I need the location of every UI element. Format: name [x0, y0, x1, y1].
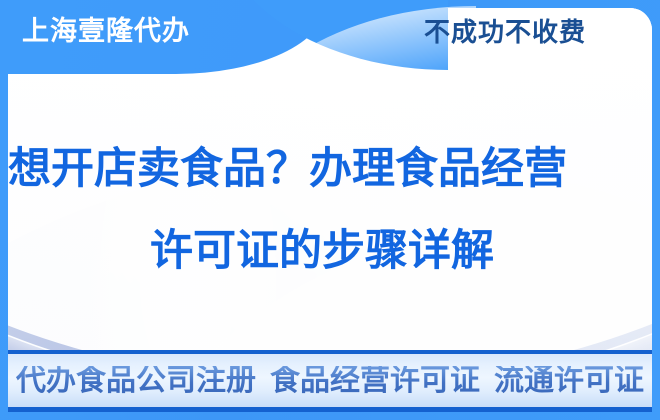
keyword-bar: 代办食品公司注册 食品经营许可证 流通许可证 [8, 350, 652, 412]
headline-line-1: 想开店卖食品？办理食品经营 [0, 128, 644, 210]
company-logo-text: 上海壹隆代办 [22, 18, 190, 45]
tagline-text: 不成功不收费 [390, 19, 620, 45]
keyword-list: 代办食品公司注册 食品经营许可证 流通许可证 [16, 366, 644, 396]
promo-banner: 上海壹隆代办 不成功不收费 想开店卖食品？办理食品经营 许可证的步骤详解 代办食… [0, 0, 660, 420]
keyword-item-2: 食品经营许可证 [270, 366, 480, 396]
headline-line-2: 许可证的步骤详解 [0, 210, 644, 292]
keyword-item-1: 代办食品公司注册 [16, 366, 256, 396]
headline: 想开店卖食品？办理食品经营 许可证的步骤详解 [0, 128, 644, 292]
keyword-item-3: 流通许可证 [494, 366, 644, 396]
